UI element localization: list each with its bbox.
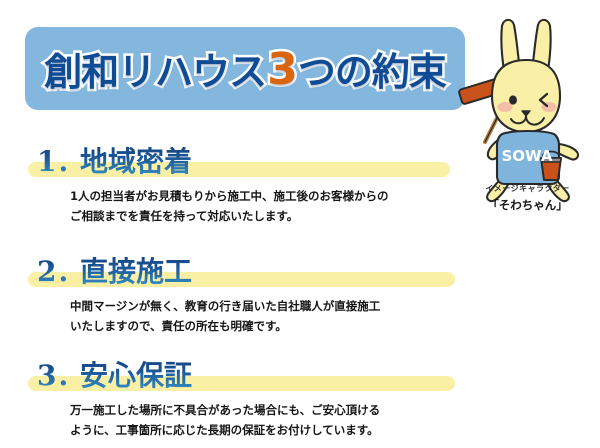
promise-separator-1: . [58, 145, 70, 178]
banner-number: 3 [266, 44, 298, 95]
banner-text-after: つの約束 [298, 41, 446, 96]
mascot-head [492, 60, 560, 132]
promise-body-1-line-1: 1人の担当者がお見積もりから施工中、施工後のお客様からの [70, 186, 470, 206]
promise-body-2: 中間マージンが無く、教育の行き届いた自社職人が直接施工 いたしますので、責任の所… [70, 296, 470, 336]
promise-heading-1: 1. 地域密着 [0, 142, 600, 180]
promise-title-row-3: 3. 安心保証 [37, 354, 192, 394]
mascot-caption-name: 「そわちゃん」 [455, 197, 600, 213]
mascot-caption-role: イメージキャラクター [455, 183, 600, 194]
promise-body-3: 万一施工した場所に不具合があった場合にも、ご安心頂ける ように、工事箇所に応じた… [70, 400, 470, 440]
promise-body-1-line-2: ご相談までを責任を持って対応いたします。 [70, 206, 470, 226]
promise-number-3: 3 [37, 359, 58, 392]
promise-heading-2: 2. 直接施工 [0, 252, 600, 290]
promise-item-1: 1. 地域密着 1人の担当者がお見積もりから施工中、施工後のお客様からの ご相談… [0, 142, 600, 180]
header-banner: 創和リハウス3つの約束 [25, 27, 465, 110]
promise-number-1: 1 [37, 145, 58, 178]
promise-body-2-line-1: 中間マージンが無く、教育の行き届いた自社職人が直接施工 [70, 296, 470, 316]
promise-number-2: 2 [37, 255, 58, 288]
promise-title-3: 安心保証 [80, 359, 192, 392]
promise-item-3: 3. 安心保証 万一施工した場所に不具合があった場合にも、ご安心頂ける ように、… [0, 356, 600, 394]
promise-body-2-line-2: いたしますので、責任の所在も明確です。 [70, 316, 470, 336]
promise-title-1: 地域密着 [80, 145, 192, 178]
banner-text-before: 創和リハウス [44, 41, 266, 96]
header-banner-text: 創和リハウス3つの約束 [25, 27, 465, 110]
promise-item-2: 2. 直接施工 中間マージンが無く、教育の行き届いた自社職人が直接施工 いたしま… [0, 252, 600, 290]
promise-body-1: 1人の担当者がお見積もりから施工中、施工後のお客様からの ご相談までを責任を持っ… [70, 186, 470, 226]
promise-heading-3: 3. 安心保証 [0, 356, 600, 394]
promise-separator-3: . [58, 359, 70, 392]
promise-body-3-line-1: 万一施工した場所に不具合があった場合にも、ご安心頂ける [70, 400, 470, 420]
promise-separator-2: . [58, 255, 70, 288]
mascot-caption: イメージキャラクター 「そわちゃん」 [455, 183, 600, 213]
promise-title-2: 直接施工 [80, 255, 192, 288]
mascot-eye-left [509, 95, 517, 104]
promise-title-row-1: 1. 地域密着 [37, 140, 192, 180]
promise-body-3-line-2: ように、工事箇所に応じた長期の保証をお付けしています。 [70, 420, 470, 440]
promise-poster: 創和リハウス3つの約束 [0, 0, 600, 448]
mascot-cheek-left [498, 102, 513, 112]
promise-title-row-2: 2. 直接施工 [37, 250, 192, 290]
